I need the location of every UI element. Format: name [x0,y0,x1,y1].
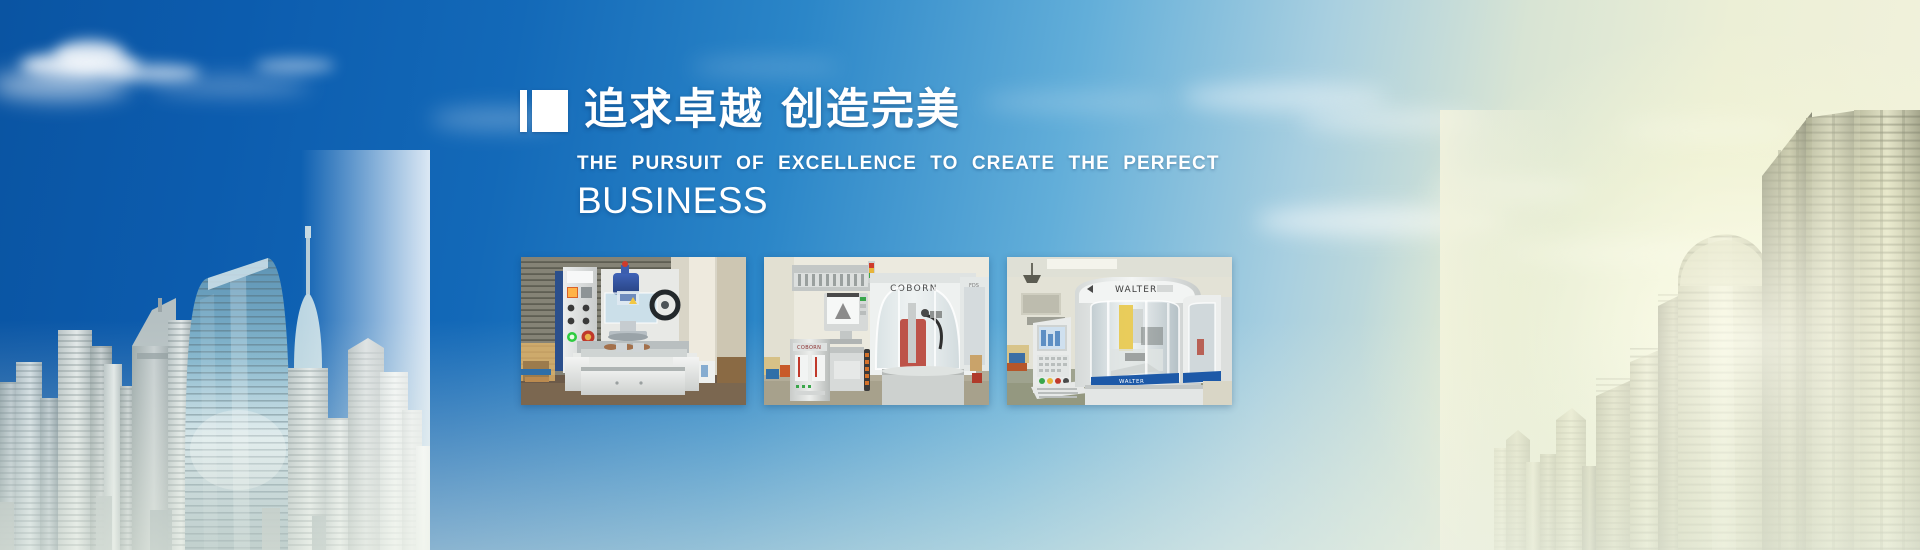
photo-1-artwork [521,257,746,405]
sky-haze-right [1140,0,1920,550]
banner-subtitle-en: THE PURSUIT OF EXCELLENCE TO CREATE THE … [577,153,1240,175]
svg-text:WALTER: WALTER [1119,379,1144,385]
cityscape-right [1440,110,1920,550]
logo-bar-icon [520,90,527,132]
banner-text-block: 追求卓越 创造完美 THE PURSUIT OF EXCELLENCE TO C… [520,88,1240,221]
banner-headline-cn: 追求卓越 创造完美 [584,89,961,132]
svg-text:FDS: FDS [969,283,979,289]
photo-cnc-milling-machine[interactable] [521,257,746,405]
svg-text:COBORN: COBORN [797,345,821,351]
hero-banner: 追求卓越 创造完美 THE PURSUIT OF EXCELLENCE TO C… [0,0,1920,550]
logo-square-icon [532,90,568,132]
photo-walter-tool-grinder[interactable]: WALTER [1007,257,1232,405]
photo-3-artwork: WALTER [1007,257,1232,405]
banner-business-word: BUSINESS [577,182,1240,221]
photo-coborn-grinding-machine[interactable]: COBORN [764,257,989,405]
svg-text:COBORN: COBORN [890,284,938,294]
headline-row: 追求卓越 创造完美 [520,88,1240,132]
square-bar-logo-mark [520,88,568,132]
cityscape-left [0,150,430,550]
svg-text:WALTER: WALTER [1115,285,1157,295]
photo-2-artwork: COBORN [764,257,989,405]
product-photo-strip: COBORN [521,257,1232,405]
